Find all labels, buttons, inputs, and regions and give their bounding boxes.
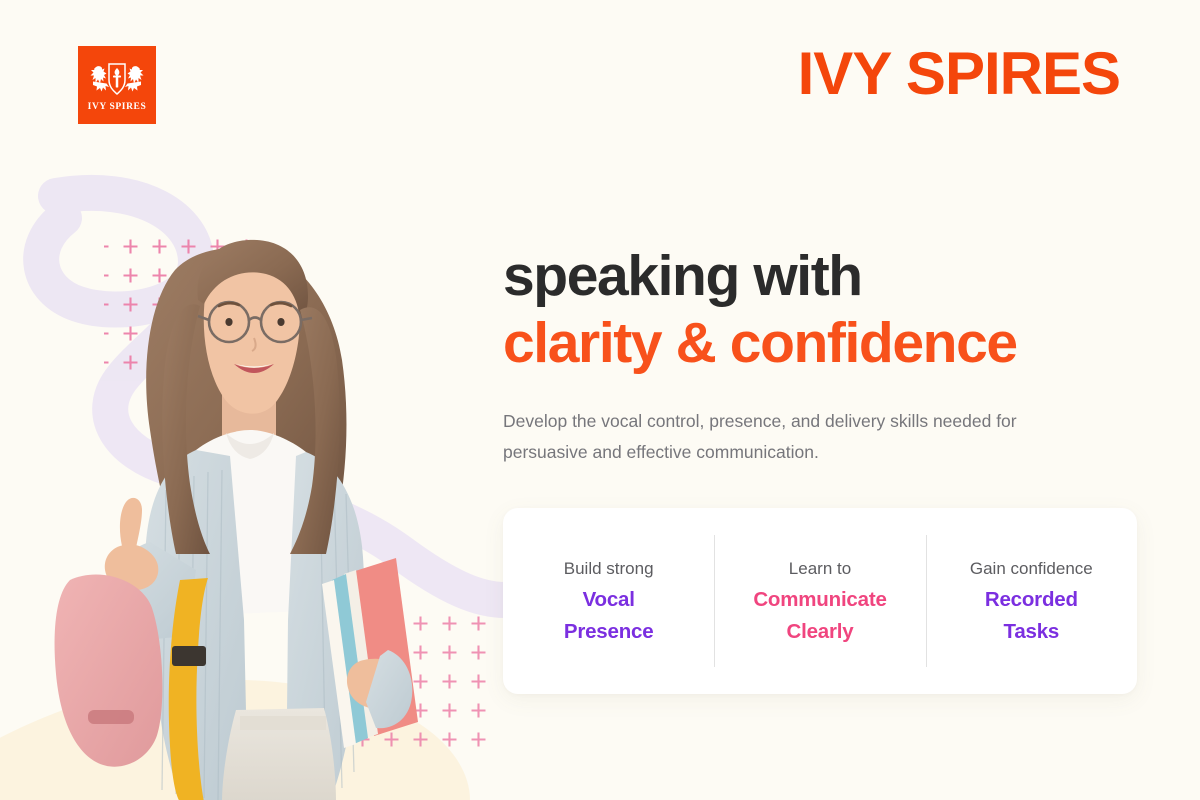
page-title: speaking with clarity & confidence (503, 243, 1123, 378)
feature-item-vocal-presence[interactable]: Build strong Vocal Presence (503, 508, 714, 694)
feature-value-line-2: Clearly (787, 620, 854, 643)
hero-copy-block: speaking with clarity & confidence Devel… (503, 243, 1123, 469)
feature-value: Communicate Clearly (753, 584, 886, 648)
feature-value-line-2: Presence (564, 620, 654, 643)
feature-item-recorded-tasks[interactable]: Gain confidence Recorded Tasks (926, 508, 1137, 694)
brand-logo-mark[interactable]: IVY SPIRES (78, 46, 156, 124)
hero-photo (0, 150, 480, 800)
brand-name-wordmark: IVY SPIRES (798, 44, 1120, 104)
feature-value: Vocal Presence (564, 584, 654, 648)
feature-value-line-1: Communicate (753, 588, 886, 611)
feature-highlights-card: Build strong Vocal Presence Learn to Com… (503, 508, 1137, 694)
feature-value: Recorded Tasks (985, 584, 1078, 648)
feature-label: Build strong (564, 555, 654, 582)
ivy-spires-crest-icon (88, 59, 146, 99)
headline-line-2: clarity & confidence (503, 310, 1123, 377)
feature-label: Learn to (789, 555, 851, 582)
headline-line-1: speaking with (503, 243, 1123, 310)
feature-item-communicate-clearly[interactable]: Learn to Communicate Clearly (714, 508, 925, 694)
feature-value-line-2: Tasks (1004, 620, 1060, 643)
feature-value-line-1: Recorded (985, 588, 1078, 611)
feature-value-line-1: Vocal (583, 588, 635, 611)
logo-wordmark: IVY SPIRES (88, 102, 147, 112)
feature-label: Gain confidence (970, 555, 1093, 582)
hero-banner: IVY SPIRES IVY SPIRES (0, 0, 1200, 800)
hero-subcopy: Develop the vocal control, presence, and… (503, 406, 1103, 470)
